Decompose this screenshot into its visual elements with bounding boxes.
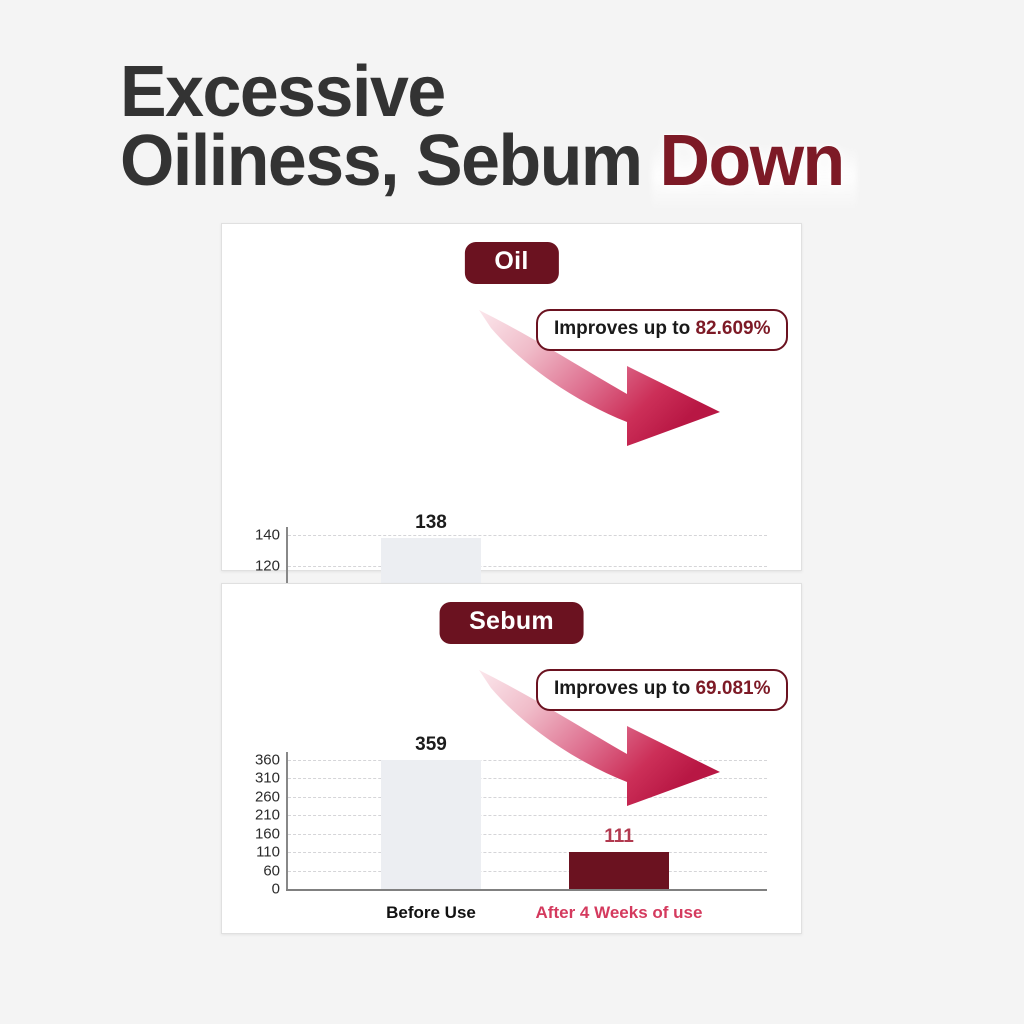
improvement-callout-sebum: Improves up to 69.081%: [536, 669, 788, 711]
callout-prefix: Improves up to: [554, 318, 695, 339]
chart-card-oil: Oil 0 20 40 60 80 100: [221, 223, 802, 571]
bar-before-use: [381, 760, 481, 889]
y-axis-tick-label: 120: [236, 558, 280, 575]
bar-before-use-value-label: 138: [371, 512, 491, 534]
gridline: [288, 566, 767, 567]
y-axis-tick-label: 160: [236, 825, 280, 842]
y-axis-tick-label: 0: [236, 881, 280, 898]
headline-line-1: Excessive: [120, 58, 935, 127]
chart-plot-oil: 0 20 40 60 80 100 120: [222, 224, 803, 570]
y-axis-tick-label: 210: [236, 807, 280, 824]
page-title: Excessive Oiliness, Sebum Down: [120, 58, 935, 196]
x-axis-label-after-4-weeks: After 4 Weeks of use: [509, 903, 729, 923]
improvement-callout-oil: Improves up to 82.609%: [536, 309, 788, 351]
headline-accent-down: Down: [660, 121, 844, 201]
headline-line-2-plain: Oiliness, Sebum: [120, 121, 660, 201]
callout-prefix: Improves up to: [554, 678, 695, 699]
y-axis-tick-label: 310: [236, 770, 280, 787]
x-axis-line: [286, 889, 767, 891]
gridline: [288, 871, 767, 872]
gridline: [288, 535, 767, 536]
bar-after-4-weeks: [569, 852, 669, 889]
bar-before-use-value-label: 359: [371, 734, 491, 756]
bar-after-4-weeks-value-label: 111: [559, 826, 679, 848]
chart-plot-sebum: 0 60 110 160 210 260 310: [222, 584, 803, 933]
y-axis-tick-label: 360: [236, 752, 280, 769]
headline-line-2: Oiliness, Sebum Down: [120, 127, 935, 196]
gridline: [288, 797, 767, 798]
y-axis-tick-label: 140: [236, 527, 280, 544]
callout-percent: 69.081%: [695, 678, 770, 699]
x-axis-label-before-use: Before Use: [321, 903, 541, 923]
callout-percent: 82.609%: [695, 318, 770, 339]
y-axis-tick-label: 260: [236, 788, 280, 805]
y-axis-tick-label: 110: [236, 844, 280, 861]
gridline: [288, 834, 767, 835]
gridline: [288, 852, 767, 853]
gridline: [288, 815, 767, 816]
gridline: [288, 760, 767, 761]
gridline: [288, 778, 767, 779]
y-axis-tick-label: 60: [236, 862, 280, 879]
chart-card-sebum: Sebum 0 60 110 160 210 260: [221, 583, 802, 934]
